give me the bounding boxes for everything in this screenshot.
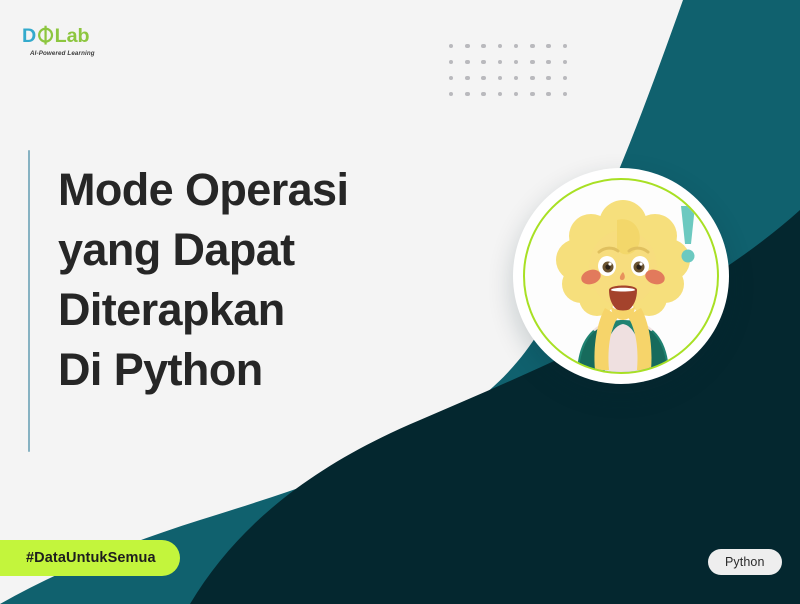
brand-logo: D Lab AI-Powered Learning xyxy=(22,24,132,57)
illustration-badge xyxy=(513,168,729,384)
svg-text:D: D xyxy=(22,25,36,47)
title-line-2: yang Dapat xyxy=(58,220,458,280)
badge-ring xyxy=(523,178,719,374)
hashtag-badge: #DataUntukSemua xyxy=(0,540,180,576)
surprised-person-illustration xyxy=(525,180,719,374)
page-title: Mode Operasi yang Dapat Diterapkan Di Py… xyxy=(58,160,458,399)
title-line-4: Di Python xyxy=(58,340,458,400)
dot-grid-icon xyxy=(443,38,573,102)
title-line-1: Mode Operasi xyxy=(58,160,458,220)
dqlab-logo-icon: D Lab xyxy=(22,24,133,48)
exclamation-mark-icon xyxy=(681,206,695,263)
svg-text:Lab: Lab xyxy=(55,25,90,47)
slide-canvas: D Lab AI-Powered Learning Mode Operasi y… xyxy=(0,0,800,604)
title-line-3: Diterapkan xyxy=(58,280,458,340)
topic-tag: Python xyxy=(708,549,782,575)
brand-tagline: AI-Powered Learning xyxy=(30,50,132,57)
title-accent-rule xyxy=(28,150,30,452)
